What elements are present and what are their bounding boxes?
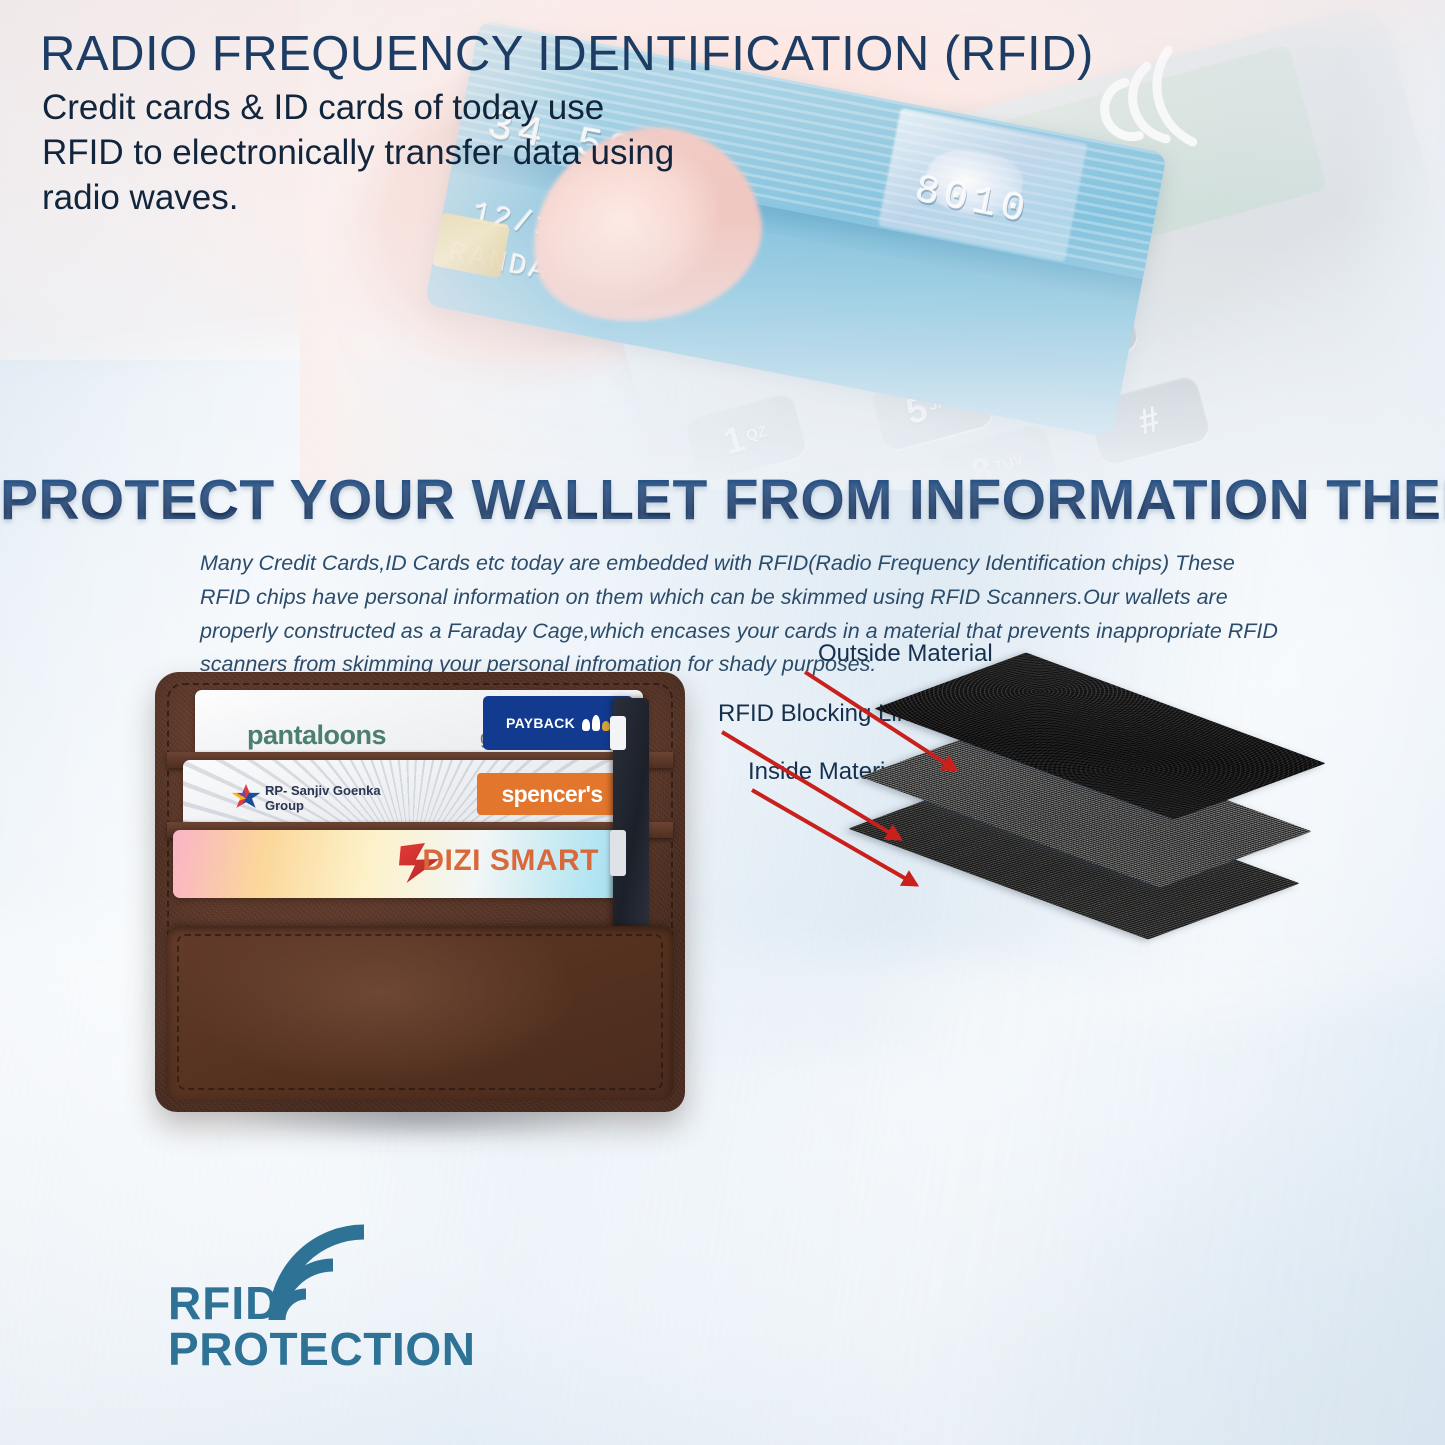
card-edge-nick [610,716,626,750]
spencers-logo: spencer's [477,773,627,815]
wallet-front-stitching [177,934,663,1090]
label-outside-material: Outside Material [818,640,993,668]
card-slot-2: RP- Sanjiv Goenka Group spencer's [183,760,639,828]
card-group-rpsg: RP- Sanjiv Goenka Group [265,784,381,814]
card-brand-pantaloons: pantaloons [247,720,386,751]
material-layers-diagram: Outside Material RFID Blocking Lining In… [700,630,1300,930]
payback-dots-icon [582,715,610,731]
card-edge-nick [610,830,626,876]
rfid-protection-logo: RFID PROTECTION [168,1232,488,1367]
card-slot-1: pantaloons greencard PAYBACK [195,690,643,758]
banner-headline: PROTECT YOUR WALLET FROM INFORMATION THE… [0,467,1445,533]
leather-wallet: pantaloons greencard PAYBACK RP- Sanjiv … [155,672,685,1112]
logo-line-protection: PROTECTION [168,1322,476,1376]
page-subtitle: Credit cards & ID cards of today use RFI… [42,86,682,220]
infographic-canvas: 1QZ 2ABC 6MNO 4GHI 5JKL 9WXY 8TU [0,0,1445,1445]
page-title: RADIO FREQUENCY IDENTIFICATION (RFID) [40,26,1094,82]
rfid-wave-icon [264,1220,396,1328]
card-slot-3: DIZI SMART [173,830,633,898]
card-brand-dizi-smart: DIZI SMART [422,844,599,878]
wallet-front-pocket [167,926,673,1100]
payback-label: PAYBACK [506,715,575,731]
